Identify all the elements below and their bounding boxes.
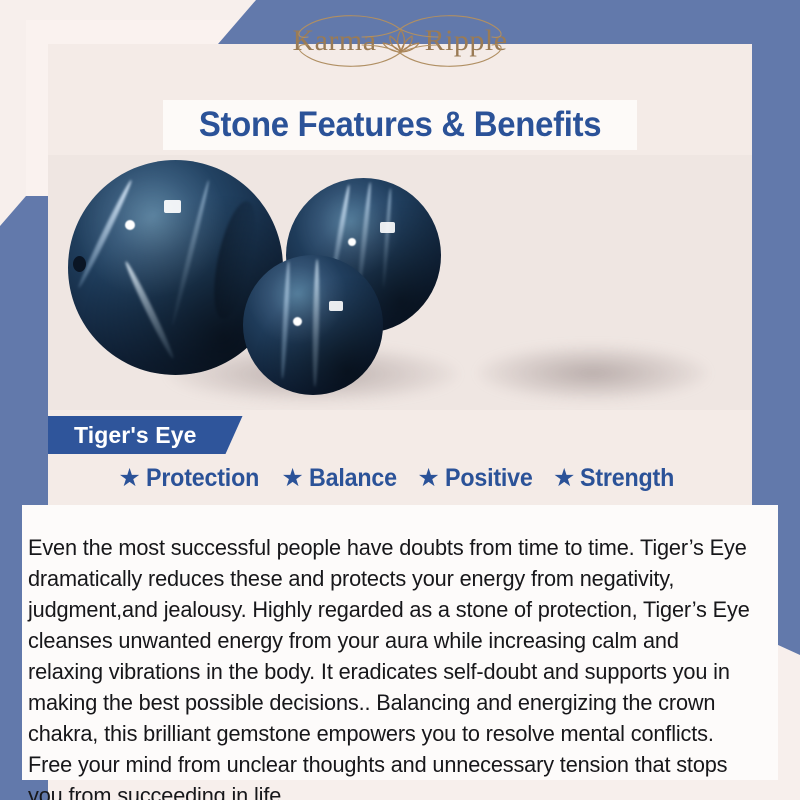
star-icon: ★ <box>281 466 303 491</box>
feature-label: Balance <box>309 464 397 493</box>
feature-item-positive: ★ Positive <box>410 464 546 493</box>
shadow-right <box>478 345 708 401</box>
feature-label: Positive <box>445 464 533 493</box>
specular-highlight <box>380 222 395 233</box>
sphere-shading <box>243 255 383 395</box>
stone-name-ribbon: Tiger's Eye <box>48 416 243 454</box>
feature-label: Protection <box>146 464 259 493</box>
brand-name-left: Karma <box>292 26 376 56</box>
lotus-icon <box>381 24 421 58</box>
specular-highlight <box>348 238 356 246</box>
description-text: Even the most successful people have dou… <box>28 532 750 800</box>
star-icon: ★ <box>118 466 140 491</box>
feature-item-protection: ★ Protection <box>111 464 274 493</box>
feature-item-strength: ★ Strength <box>546 464 689 493</box>
feature-item-balance: ★ Balance <box>274 464 410 493</box>
gemstone-photo <box>48 155 752 410</box>
specular-highlight <box>329 301 343 311</box>
star-icon: ★ <box>553 466 575 491</box>
specular-highlight <box>164 200 181 213</box>
feature-label: Strength <box>580 464 674 493</box>
title-band: Stone Features & Benefits <box>163 100 637 150</box>
page-title: Stone Features & Benefits <box>199 105 601 145</box>
description-card: Even the most successful people have dou… <box>22 505 778 780</box>
stone-name-label: Tiger's Eye <box>74 422 197 449</box>
gemstone-sphere-small <box>243 255 383 395</box>
specular-highlight <box>293 317 302 326</box>
gemstone-photo-inner <box>48 155 752 410</box>
star-icon: ★ <box>417 466 439 491</box>
specular-highlight <box>125 220 135 230</box>
infographic-poster: Karma Ripple Stone Features & Benefits <box>0 0 800 800</box>
drill-hole <box>73 256 86 272</box>
brand-name-right: Ripple <box>425 26 508 56</box>
feature-list: ★ Protection ★ Balance ★ Positive ★ Stre… <box>48 464 752 493</box>
brand-logo: Karma Ripple <box>0 24 800 58</box>
brand-logo-row: Karma Ripple <box>292 24 507 58</box>
